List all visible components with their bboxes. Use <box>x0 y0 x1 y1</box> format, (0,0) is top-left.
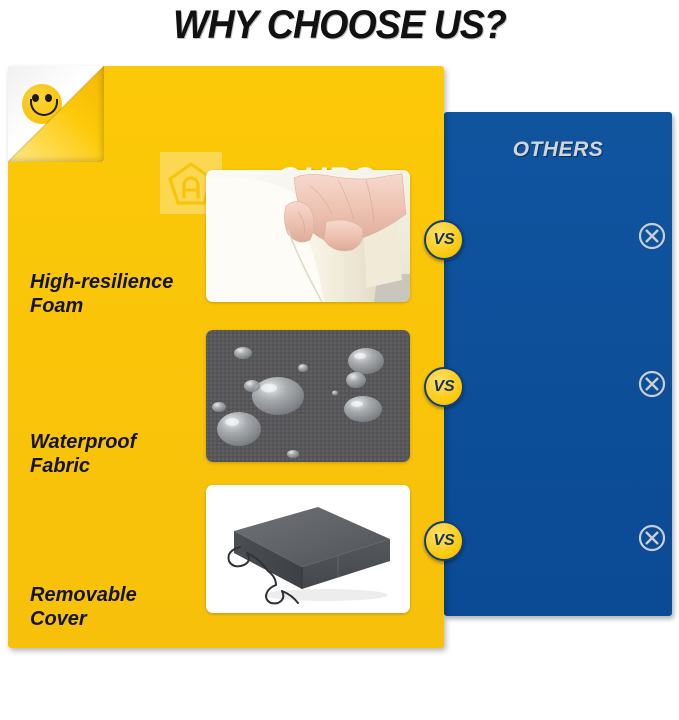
smiley-eye-left <box>32 94 39 102</box>
ours-image-removable-cover <box>206 485 410 613</box>
feature-label-line2: Cover <box>30 608 210 632</box>
grey-mattress-with-tie-straps-photo <box>206 485 410 613</box>
feature-label-line2: Fabric <box>30 455 210 479</box>
water-beads-on-waterproof-fabric-photo <box>206 330 410 462</box>
ours-image-resilient-foam <box>206 170 410 302</box>
smiley-mouth <box>30 99 58 116</box>
vs-badge: VS <box>424 521 464 561</box>
feature-label-high-resilience-foam: High-resilience Foam <box>30 271 210 318</box>
ours-image-waterproof-fabric <box>206 330 410 462</box>
feature-label-line1: Removable <box>30 584 210 608</box>
feature-label-waterproof-fabric: Waterproof Fabric <box>30 431 210 478</box>
feature-label-line2: Foam <box>30 295 210 319</box>
circle-x-icon <box>638 222 666 250</box>
feature-label-line1: High-resilience <box>30 271 210 295</box>
ours-panel: OURS High-resilience Foam Waterproof Fab… <box>8 66 444 648</box>
infographic-canvas: WHY CHOOSE US? OTHERS <box>0 0 679 662</box>
circle-x-icon <box>638 370 666 398</box>
vs-badge: VS <box>424 220 464 260</box>
smiley-eye-right <box>45 94 52 102</box>
vs-badge: VS <box>424 367 464 407</box>
circle-x-icon <box>638 524 666 552</box>
hand-pressing-resilient-foam-photo <box>206 170 410 302</box>
page-title: WHY CHOOSE US? <box>20 0 658 50</box>
others-panel: OTHERS <box>444 112 672 616</box>
others-heading: OTHERS <box>444 138 672 162</box>
feature-label-removable-cover: Removable Cover <box>30 584 210 631</box>
feature-label-line1: Waterproof <box>30 431 210 455</box>
